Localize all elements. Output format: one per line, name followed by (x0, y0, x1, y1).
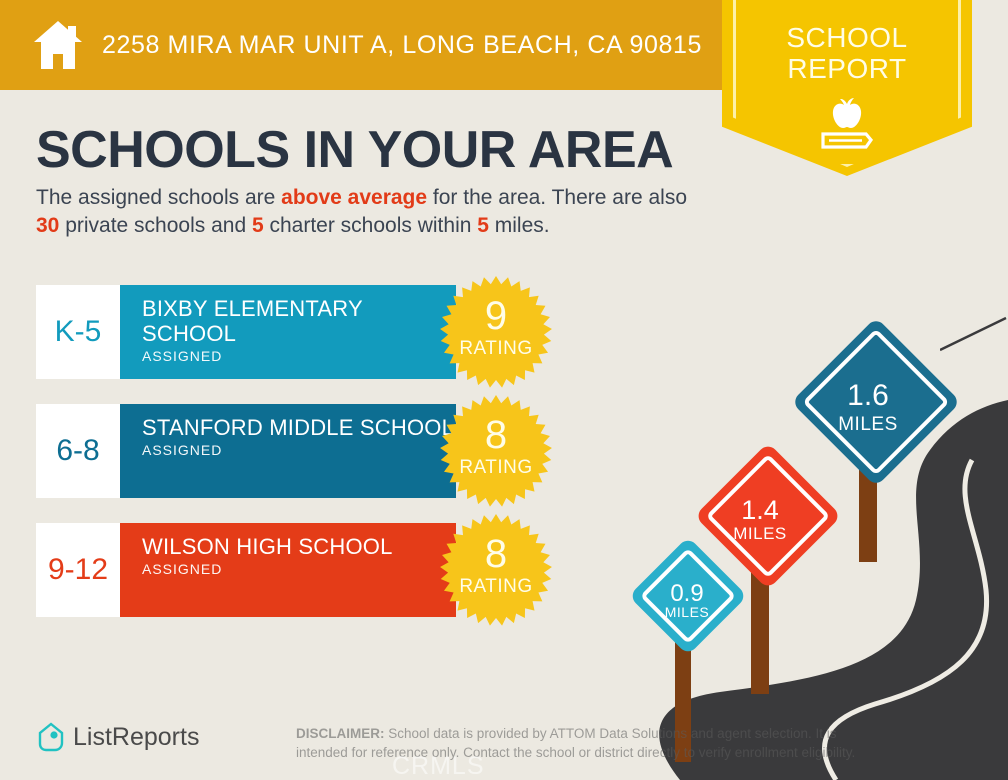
badge-title-line2: REPORT (722, 53, 972, 84)
subtitle-part-e: miles. (489, 214, 550, 237)
grade-range-label: K-5 (55, 315, 102, 349)
listreports-logo[interactable]: ListReports (38, 722, 199, 752)
property-address: 2258 MIRA MAR UNIT A, LONG BEACH, CA 908… (102, 31, 702, 60)
school-status: ASSIGNED (142, 442, 456, 458)
school-bar: STANFORD MIDDLE SCHOOL ASSIGNED (120, 404, 456, 498)
sign-distance-value: 1.6 (780, 380, 956, 412)
subtitle-part-a: The assigned schools are (36, 186, 281, 209)
rating-value: 8 (440, 534, 552, 574)
listreports-wordmark: ListReports (73, 723, 199, 752)
school-bar: WILSON HIGH SCHOOL ASSIGNED (120, 523, 456, 617)
grade-range-box: 9-12 (36, 523, 120, 617)
sign-distance-unit: MILES (780, 414, 956, 436)
disclaimer-label: DISCLAIMER: (296, 726, 385, 741)
school-name: BIXBY ELEMENTARY SCHOOL (142, 296, 456, 346)
subtitle-highlight-radius: 5 (477, 214, 489, 237)
school-row[interactable]: 9-12 WILSON HIGH SCHOOL ASSIGNED (36, 523, 456, 617)
subtitle-highlight-private-count: 30 (36, 214, 59, 237)
apple-on-books-icon (814, 96, 880, 158)
rating-value: 8 (440, 415, 552, 455)
badge-title-line1: SCHOOL (722, 22, 972, 53)
road-scene: 1.6 MILES 1.4 MILES 0.9 MILES (600, 300, 1008, 780)
rating-label: RATING (440, 457, 552, 479)
school-status: ASSIGNED (142, 561, 456, 577)
crmls-watermark: CRMLS (392, 752, 485, 780)
grade-range-label: 9-12 (48, 553, 108, 587)
disclaimer-text: DISCLAIMER: School data is provided by A… (296, 724, 876, 762)
badge-title: SCHOOL REPORT (722, 22, 972, 84)
school-report-badge: SCHOOL REPORT (722, 0, 972, 176)
rating-label: RATING (440, 338, 552, 360)
sign-distance-value: 1.4 (680, 494, 840, 526)
school-name: STANFORD MIDDLE SCHOOL (142, 415, 456, 440)
school-row[interactable]: 6-8 STANFORD MIDDLE SCHOOL ASSIGNED (36, 404, 456, 498)
school-bar: BIXBY ELEMENTARY SCHOOL ASSIGNED (120, 285, 456, 379)
subtitle-part-b: for the area. There are also (427, 186, 687, 209)
rating-label: RATING (440, 576, 552, 598)
grade-range-label: 6-8 (56, 434, 99, 468)
listreports-house-tag-icon (38, 722, 64, 752)
sign-distance-unit: MILES (622, 604, 752, 620)
subtitle-highlight-above-average: above average (281, 186, 427, 209)
home-icon (30, 17, 86, 73)
subtitle-part-c: private schools and (59, 214, 252, 237)
rating-badge: 8 RATING (440, 514, 552, 626)
school-row[interactable]: K-5 BIXBY ELEMENTARY SCHOOL ASSIGNED (36, 285, 456, 379)
school-status: ASSIGNED (142, 348, 456, 364)
subtitle-highlight-charter-count: 5 (252, 214, 264, 237)
rating-badge: 8 RATING (440, 395, 552, 507)
grade-range-box: 6-8 (36, 404, 120, 498)
rating-badge: 9 RATING (440, 276, 552, 388)
subtitle: The assigned schools are above average f… (36, 184, 716, 240)
subtitle-part-d: charter schools within (264, 214, 478, 237)
school-name: WILSON HIGH SCHOOL (142, 534, 456, 559)
header-bar: 2258 MIRA MAR UNIT A, LONG BEACH, CA 908… (0, 0, 736, 90)
rating-value: 9 (440, 296, 552, 336)
page-title: SCHOOLS IN YOUR AREA (36, 120, 673, 180)
school-report-infographic: 2258 MIRA MAR UNIT A, LONG BEACH, CA 908… (0, 0, 1008, 780)
grade-range-box: K-5 (36, 285, 120, 379)
